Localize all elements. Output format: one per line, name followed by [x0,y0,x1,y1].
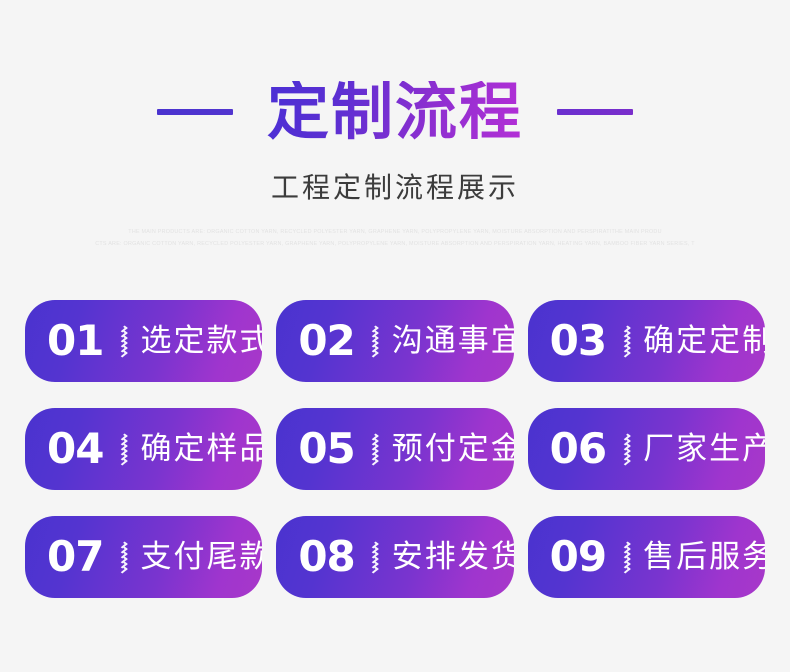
step-number: 01 [47,320,103,362]
step-number: 07 [47,536,103,578]
process-steps-row: 01 选定款式 02 沟通事宜 03 确定定制 [25,300,765,382]
step-number: 03 [550,320,606,362]
chevron-divider-icon [367,531,383,583]
chevron-divider-icon [115,531,131,583]
title-row: 定制流程 [0,74,790,150]
process-step-03[interactable]: 03 确定定制 [528,300,765,382]
process-step-07[interactable]: 07 支付尾款 [25,516,262,598]
step-label: 确定定制 [643,326,765,357]
step-number: 06 [550,428,606,470]
fineprint-line-1: THE MAIN PRODUCTS ARE: ORGANIC COTTON YA… [0,226,790,238]
step-label: 支付尾款 [140,542,262,573]
process-steps-row: 04 确定样品 05 预付定金 06 厂家生产 [25,408,765,490]
page-subtitle: 工程定制流程展示 [0,166,790,206]
chevron-divider-icon [367,315,383,367]
chevron-divider-icon [367,423,383,475]
chevron-divider-icon [618,531,634,583]
process-step-06[interactable]: 06 厂家生产 [528,408,765,490]
decorative-bar-right-icon [557,109,633,115]
step-number: 02 [298,320,354,362]
chevron-divider-icon [115,423,131,475]
page-title: 定制流程 [267,81,523,143]
fineprint-line-2: CTS ARE: ORGANIC COTTON YARN, RECYCLED P… [0,238,790,250]
process-steps-grid: 01 选定款式 02 沟通事宜 03 确定定制 [25,300,765,598]
step-label: 确定样品 [140,434,262,465]
process-step-02[interactable]: 02 沟通事宜 [276,300,513,382]
process-step-05[interactable]: 05 预付定金 [276,408,513,490]
decorative-bar-left-icon [157,109,233,115]
page-header: 定制流程 工程定制流程展示 THE MAIN PRODUCTS ARE: ORG… [0,0,790,250]
process-step-01[interactable]: 01 选定款式 [25,300,262,382]
step-label: 选定款式 [140,326,262,357]
process-steps-row: 07 支付尾款 08 安排发货 09 售后服务 [25,516,765,598]
step-number: 08 [298,536,354,578]
step-label: 预付定金 [392,434,514,465]
process-step-09[interactable]: 09 售后服务 [528,516,765,598]
customization-process-page: 定制流程 工程定制流程展示 THE MAIN PRODUCTS ARE: ORG… [0,0,790,672]
step-number: 05 [298,428,354,470]
chevron-divider-icon [618,423,634,475]
chevron-divider-icon [115,315,131,367]
step-label: 安排发货 [392,542,514,573]
step-label: 沟通事宜 [392,326,514,357]
chevron-divider-icon [618,315,634,367]
step-label: 售后服务 [643,542,765,573]
step-label: 厂家生产 [643,434,765,465]
process-step-08[interactable]: 08 安排发货 [276,516,513,598]
step-number: 09 [550,536,606,578]
step-number: 04 [47,428,103,470]
process-step-04[interactable]: 04 确定样品 [25,408,262,490]
